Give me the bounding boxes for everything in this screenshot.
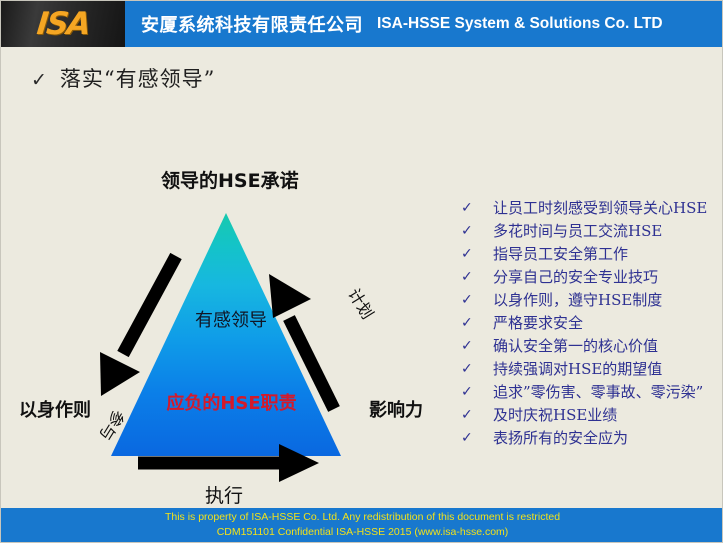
slide-footer: This is property of ISA-HSSE Co. Ltd. An… <box>1 508 723 542</box>
list-item-label: 及时庆祝HSE业绩 <box>493 404 721 426</box>
list-item-label: 分享自己的安全专业技巧 <box>493 266 721 288</box>
check-icon: ✓ <box>453 404 493 426</box>
list-item-label: 指导员工安全第工作 <box>493 243 721 265</box>
list-item: ✓ 多花时间与员工交流HSE <box>453 220 721 242</box>
triangle-inner-label-red: 应负的HSE职责 <box>149 389 314 415</box>
list-item: ✓ 以身作则，遵守HSE制度 <box>453 289 721 311</box>
footer-document-line: CDM151101 Confidential ISA-HSSE 2015 (ww… <box>217 525 509 540</box>
check-icon: ✓ <box>453 312 493 334</box>
isa-logo-text: ISA <box>35 6 91 42</box>
header-title-bar: 安厦系统科技有限责任公司 ISA-HSSE System & Solutions… <box>125 1 723 47</box>
triangle-shape <box>111 213 341 456</box>
slide-header: ISA 安厦系统科技有限责任公司 ISA-HSSE System & Solut… <box>1 1 723 47</box>
list-item: ✓ 持续强调对HSE的期望值 <box>453 358 721 380</box>
triangle-right-label: 影响力 <box>369 396 423 422</box>
list-item-label: 确认安全第一的核心价值 <box>493 335 721 357</box>
check-icon: ✓ <box>453 197 493 219</box>
list-item-label: 表扬所有的安全应为 <box>493 427 721 449</box>
company-name-en: ISA-HSSE System & Solutions Co. LTD <box>377 15 663 33</box>
page-title: ✓ 落实“有感领导” <box>31 63 215 93</box>
triangle-side-label-right: 计划 <box>343 283 380 323</box>
list-item-label: 严格要求安全 <box>493 312 721 334</box>
list-item: ✓ 确认安全第一的核心价值 <box>453 335 721 357</box>
check-icon: ✓ <box>453 381 493 403</box>
triangle-top-label: 领导的HSE承诺 <box>161 166 299 193</box>
leadership-triangle-diagram: 领导的HSE承诺 有感领导 应负的HSE职责 以身作则 影响力 执行 参与 <box>1 156 451 516</box>
triangle-inner-label: 有感领导 <box>176 306 286 332</box>
footer-copyright-line: This is property of ISA-HSSE Co. Ltd. An… <box>165 510 560 525</box>
triangle-left-label: 以身作则 <box>19 396 91 422</box>
check-icon: ✓ <box>453 243 493 265</box>
check-icon: ✓ <box>453 289 493 311</box>
list-item: ✓ 表扬所有的安全应为 <box>453 427 721 449</box>
check-icon: ✓ <box>453 335 493 357</box>
slide-canvas: ISA 安厦系统科技有限责任公司 ISA-HSSE System & Solut… <box>0 0 723 543</box>
check-icon: ✓ <box>453 427 493 449</box>
company-name-cn: 安厦系统科技有限责任公司 <box>141 11 363 37</box>
page-title-text: 落实“有感领导” <box>60 63 215 93</box>
list-item: ✓ 及时庆祝HSE业绩 <box>453 404 721 426</box>
leadership-actions-list: ✓ 让员工时刻感受到领导关心HSE ✓ 多花时间与员工交流HSE ✓ 指导员工安… <box>453 197 721 450</box>
list-item: ✓ 让员工时刻感受到领导关心HSE <box>453 197 721 219</box>
list-item-label: 多花时间与员工交流HSE <box>493 220 721 242</box>
check-icon: ✓ <box>453 266 493 288</box>
list-item-label: 追求”零伤害、零事故、零污染” <box>493 381 721 403</box>
check-icon: ✓ <box>31 71 47 90</box>
check-icon: ✓ <box>453 358 493 380</box>
list-item: ✓ 指导员工安全第工作 <box>453 243 721 265</box>
list-item: ✓ 分享自己的安全专业技巧 <box>453 266 721 288</box>
isa-logo: ISA <box>1 1 125 47</box>
list-item-label: 以身作则，遵守HSE制度 <box>493 289 721 311</box>
triangle-bottom-label: 执行 <box>205 481 243 508</box>
list-item: ✓ 追求”零伤害、零事故、零污染” <box>453 381 721 403</box>
list-item-label: 持续强调对HSE的期望值 <box>493 358 721 380</box>
list-item: ✓ 严格要求安全 <box>453 312 721 334</box>
check-icon: ✓ <box>453 220 493 242</box>
list-item-label: 让员工时刻感受到领导关心HSE <box>493 197 721 219</box>
